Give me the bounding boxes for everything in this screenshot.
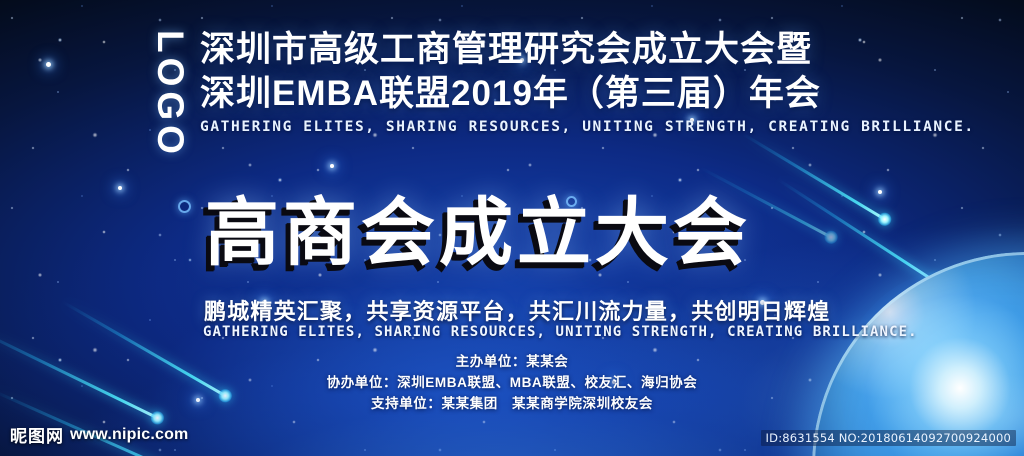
organizer-block: 主办单位：某某会 协办单位：深圳EMBA联盟、MBA联盟、校友汇、海归协会 支持… [0,352,1024,415]
site-name-cn: 昵图网 [10,422,64,447]
comet-right-2 [777,178,938,284]
star-glow-dot [118,186,122,190]
main-title: 高商会成立大会 [205,196,751,270]
star-ring [178,200,191,213]
logo-text: LOGO [152,30,189,159]
star-glow-dot [46,62,51,67]
organizer-line-supporter: 支持单位：某某集团 某某商学院深圳校友会 [0,394,1024,415]
headline-line-1: 深圳市高级工商管理研究会成立大会暨 [200,28,900,72]
headline-english-slogan: GATHERING ELITES, SHARING RESOURCES, UNI… [200,119,900,135]
organizer-line-coorganizer: 协办单位：深圳EMBA联盟、MBA联盟、校友汇、海归协会 [0,373,1024,394]
star-glow-dot [878,190,882,194]
star-glow-dot [330,164,334,168]
organizer-line-host: 主办单位：某某会 [0,352,1024,373]
subtitle-chinese: 鹏城精英汇聚，共享资源平台，共汇川流力量，共创明日辉煌 [204,294,830,326]
headline-line-2: 深圳EMBA联盟2019年（第三届）年会 [200,72,900,116]
site-watermark: 昵图网 www.nipic.com [10,422,188,447]
logo-placeholder[interactable]: LOGO [141,26,199,162]
subtitle-english: GATHERING ELITES, SHARING RESOURCES, UNI… [203,324,918,340]
poster-canvas: LOGO 深圳市高级工商管理研究会成立大会暨 深圳EMBA联盟2019年（第三届… [0,0,1024,456]
site-url: www.nipic.com [70,426,188,444]
asset-id-tag: ID:8631554 NO:20180614092700924000 [761,430,1016,446]
comet-right-1 [741,132,887,221]
header-block: 深圳市高级工商管理研究会成立大会暨 深圳EMBA联盟2019年（第三届）年会 G… [200,28,900,135]
